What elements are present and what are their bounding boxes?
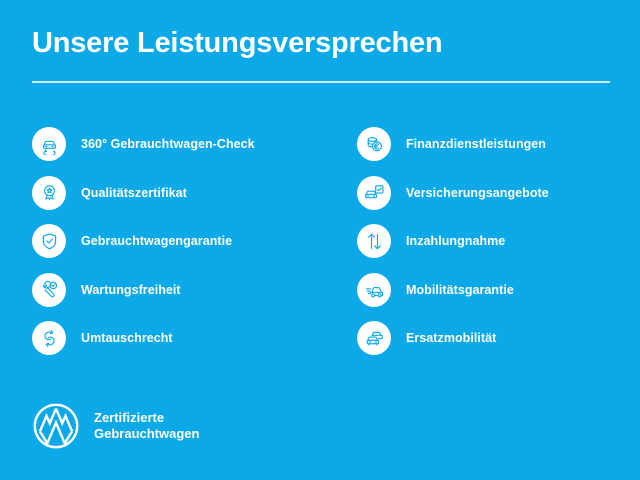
wrench-check-icon [32, 273, 66, 307]
footer-line-2: Gebrauchtwagen [94, 426, 199, 442]
feature-label: Gebrauchtwagengarantie [81, 234, 232, 248]
footer-line-1: Zertifizierte [94, 410, 199, 426]
feature-item[interactable]: Ersatzmobilität [357, 314, 640, 363]
footer-text: Zertifizierte Gebrauchtwagen [94, 410, 199, 443]
feature-item[interactable]: Mobilitätsgarantie [357, 266, 640, 315]
feature-item[interactable]: Finanzdienstleistungen [357, 120, 640, 169]
promise-poster: Unsere Leistungsversprechen 360° Gebrauc… [0, 0, 640, 480]
feature-label: Qualitätszertifikat [81, 186, 187, 200]
car-check-360-icon [32, 127, 66, 161]
tow-truck-icon [357, 273, 391, 307]
header-divider [32, 81, 610, 83]
header: Unsere Leistungsversprechen [32, 28, 610, 60]
feature-item[interactable]: Umtauschrecht [32, 314, 320, 363]
feature-item[interactable]: Gebrauchtwagengarantie [32, 217, 320, 266]
feature-item[interactable]: 360° Gebrauchtwagen-Check [32, 120, 320, 169]
two-cars-icon [357, 321, 391, 355]
coins-euro-icon [357, 127, 391, 161]
feature-item[interactable]: Versicherungsangebote [357, 169, 640, 218]
volkswagen-logo-icon [32, 402, 80, 450]
feature-label: 360° Gebrauchtwagen-Check [81, 137, 255, 151]
feature-label: Versicherungsangebote [406, 186, 549, 200]
feature-label: Inzahlungnahme [406, 234, 505, 248]
feature-label: Wartungsfreiheit [81, 283, 181, 297]
footer-lockup: Zertifizierte Gebrauchtwagen [32, 402, 199, 450]
shield-check-icon [32, 224, 66, 258]
exchange-arrows-icon [32, 321, 66, 355]
feature-label: Finanzdienstleistungen [406, 137, 546, 151]
quality-rosette-icon [32, 176, 66, 210]
features-left-column: 360° Gebrauchtwagen-Check Qualitätszerti… [0, 120, 320, 363]
car-document-icon [357, 176, 391, 210]
features-columns: 360° Gebrauchtwagen-Check Qualitätszerti… [0, 120, 640, 363]
feature-item[interactable]: Inzahlungnahme [357, 217, 640, 266]
feature-label: Mobilitätsgarantie [406, 283, 514, 297]
feature-label: Umtauschrecht [81, 331, 173, 345]
feature-item[interactable]: Wartungsfreiheit [32, 266, 320, 315]
feature-item[interactable]: Qualitätszertifikat [32, 169, 320, 218]
feature-label: Ersatzmobilität [406, 331, 496, 345]
page-title: Unsere Leistungsversprechen [32, 28, 610, 60]
arrows-up-down-icon [357, 224, 391, 258]
